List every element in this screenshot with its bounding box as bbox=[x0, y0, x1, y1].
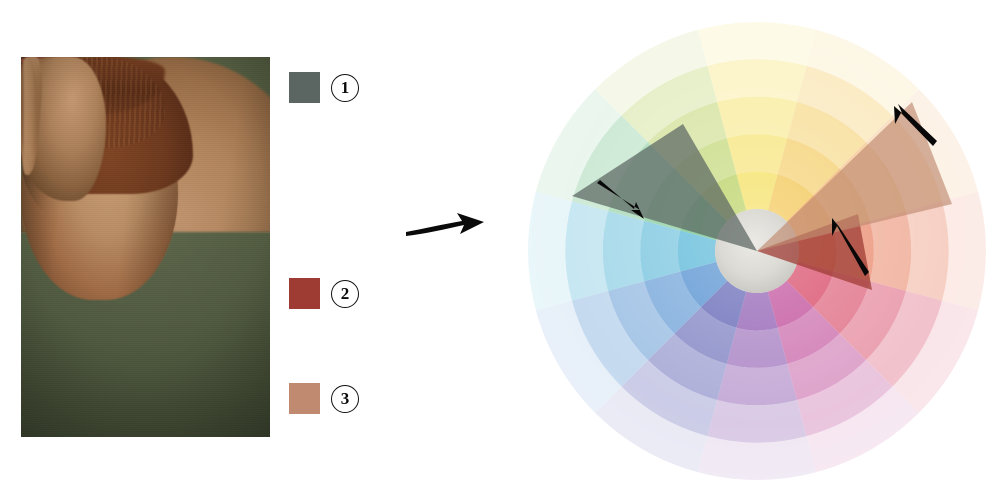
color-wheel-svg bbox=[520, 14, 994, 488]
color-wheel: 1 2 3 bbox=[520, 14, 994, 488]
swatch-badge-1: 1 bbox=[331, 74, 359, 102]
swatch-color-2 bbox=[289, 278, 320, 309]
palette-swatch-row-2: 2 bbox=[289, 278, 359, 309]
flow-arrow-right bbox=[404, 205, 488, 258]
photo-vignette bbox=[21, 57, 270, 437]
palette-extraction-figure: 1 2 3 bbox=[0, 0, 1000, 490]
swatch-badge-3: 3 bbox=[331, 385, 359, 413]
swatch-color-3 bbox=[289, 383, 320, 414]
palette-swatch-row-1: 1 bbox=[289, 72, 359, 103]
source-photograph bbox=[21, 57, 270, 437]
swatch-color-1 bbox=[289, 72, 320, 103]
palette-swatch-row-3: 3 bbox=[289, 383, 359, 414]
swatch-badge-2: 2 bbox=[331, 280, 359, 308]
